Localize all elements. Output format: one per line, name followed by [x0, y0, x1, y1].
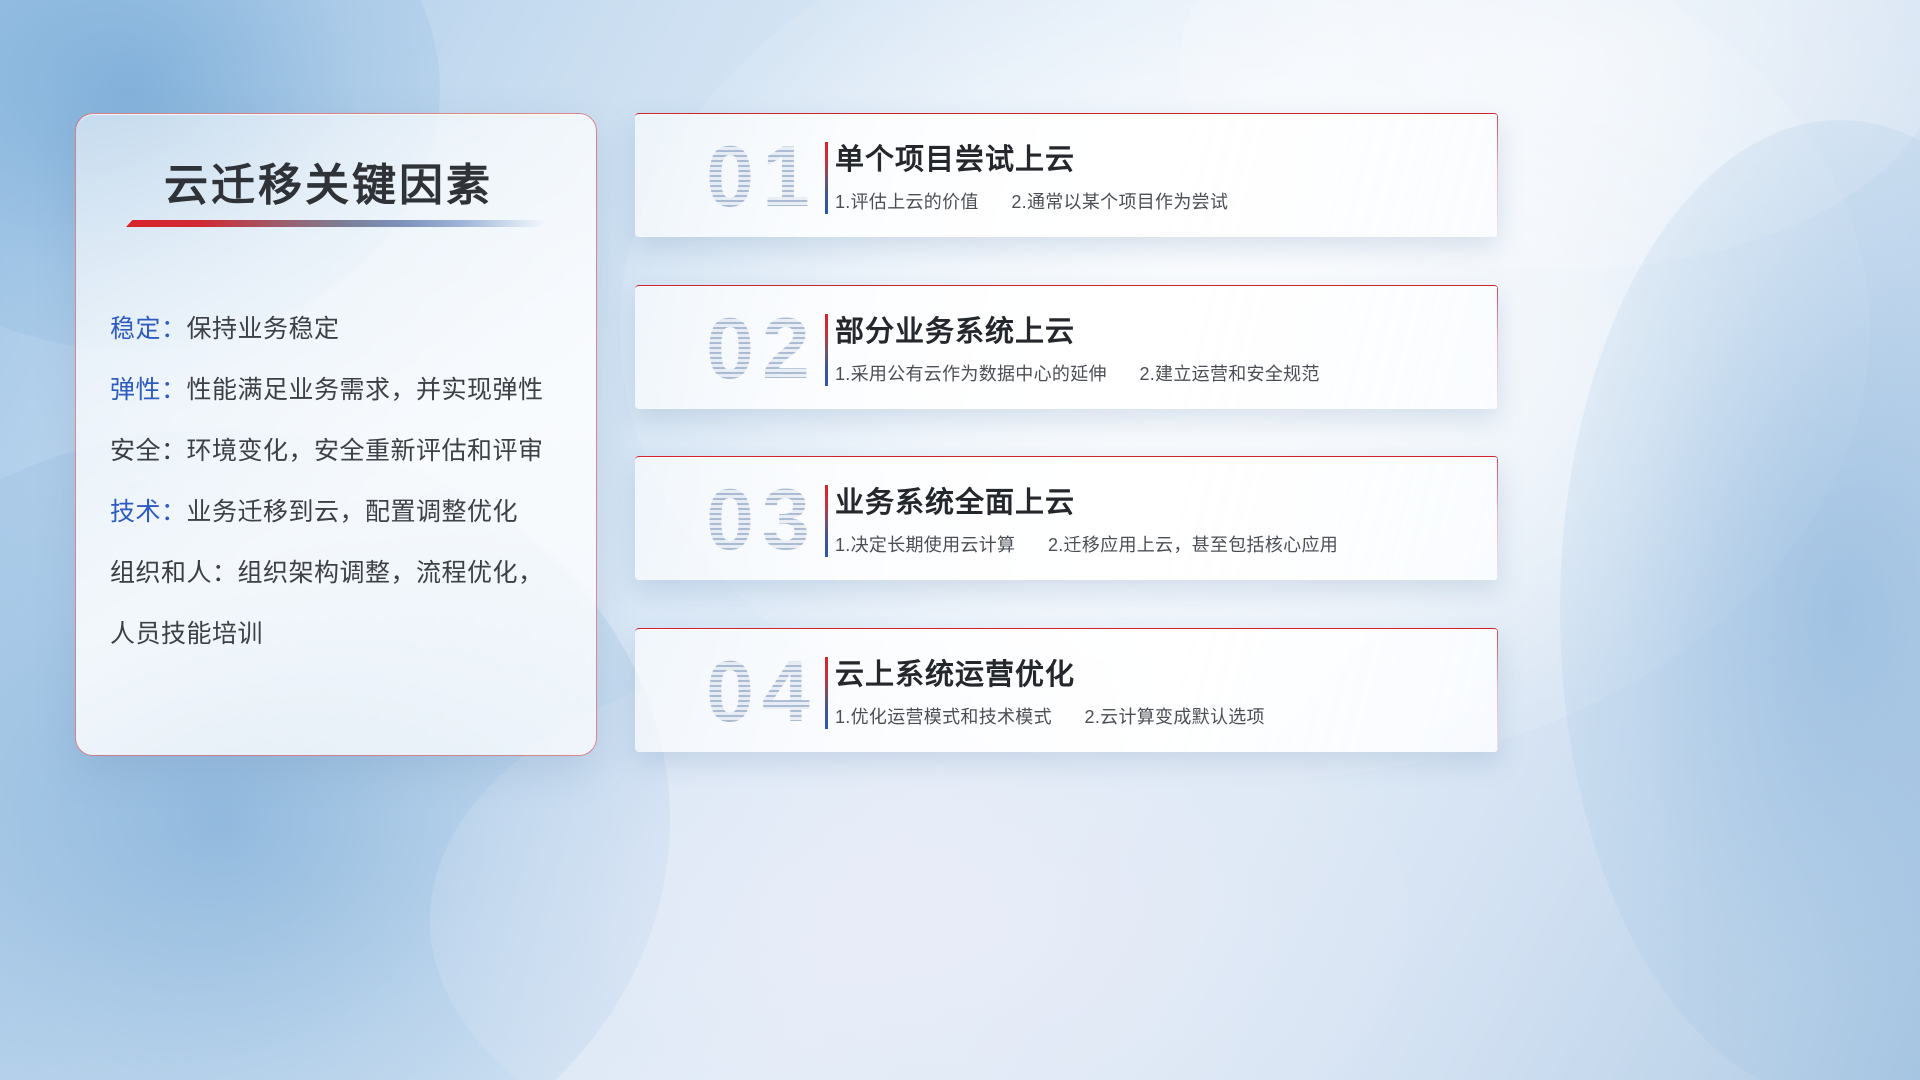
step-desc-item-2: 2.建立运营和安全规范: [1139, 364, 1319, 384]
background-glow-right-edge: [1560, 120, 1920, 1080]
key-factor-label: 组织和人：: [110, 559, 238, 587]
key-factor-value: 人员技能培训: [110, 620, 263, 648]
key-factor-row: 稳定：保持业务稳定: [110, 299, 574, 360]
title-underline-rule: [126, 220, 546, 227]
slide-canvas: 云迁移关键因素 稳定：保持业务稳定弹性：性能满足业务需求，并实现弹性安全：环境变…: [0, 0, 1920, 1080]
key-factor-row: 人员技能培训: [110, 604, 574, 665]
key-factor-label: 技术：: [110, 498, 187, 526]
key-factor-label: 安全：: [110, 437, 187, 465]
step-title-02: 部分业务系统上云: [835, 308, 1075, 350]
step-desc-item-1: 1.采用公有云作为数据中心的延伸: [835, 364, 1107, 384]
step-description-02: 1.采用公有云作为数据中心的延伸 2.建立运营和安全规范: [835, 360, 1320, 386]
step-desc-item-1: 1.决定长期使用云计算: [835, 535, 1015, 555]
key-factor-row: 技术：业务迁移到云，配置调整优化: [110, 482, 574, 543]
step-title-04: 云上系统运营优化: [835, 651, 1075, 693]
key-factor-value: 业务迁移到云，配置调整优化: [187, 498, 519, 526]
step-desc-item-2: 2.通常以某个项目作为尝试: [1011, 192, 1228, 212]
key-factor-row: 弹性：性能满足业务需求，并实现弹性: [110, 360, 574, 421]
step-description-01: 1.评估上云的价值 2.通常以某个项目作为尝试: [835, 188, 1228, 214]
key-factor-row: 组织和人：组织架构调整，流程优化，: [110, 543, 574, 604]
step-divider-bar-04: [825, 657, 828, 729]
step-divider-bar-01: [825, 142, 828, 214]
step-desc-item-2: 2.云计算变成默认选项: [1085, 707, 1265, 727]
step-desc-item-1: 1.评估上云的价值: [835, 192, 979, 212]
key-factor-value: 环境变化，安全重新评估和评审: [187, 437, 544, 465]
key-factors-list: 稳定：保持业务稳定弹性：性能满足业务需求，并实现弹性安全：环境变化，安全重新评估…: [110, 299, 574, 665]
key-factor-label: 弹性：: [110, 376, 187, 404]
key-factor-label: 稳定：: [110, 315, 187, 343]
step-title-03: 业务系统全面上云: [835, 479, 1075, 521]
step-desc-item-2: 2.迁移应用上云，甚至包括核心应用: [1048, 535, 1338, 555]
step-card-02[interactable]: 02 02 部分业务系统上云 1.采用公有云作为数据中心的延伸 2.建立运营和安…: [635, 285, 1498, 409]
step-card-04[interactable]: 04 04 云上系统运营优化 1.优化运营模式和技术模式 2.云计算变成默认选项: [635, 628, 1498, 752]
step-description-04: 1.优化运营模式和技术模式 2.云计算变成默认选项: [835, 703, 1265, 729]
step-divider-bar-02: [825, 314, 828, 386]
page-title: 云迁移关键因素: [164, 149, 493, 213]
step-desc-item-1: 1.优化运营模式和技术模式: [835, 707, 1052, 727]
key-factors-panel: 云迁移关键因素 稳定：保持业务稳定弹性：性能满足业务需求，并实现弹性安全：环境变…: [75, 113, 597, 756]
key-factor-row: 安全：环境变化，安全重新评估和评审: [110, 421, 574, 482]
key-factor-value: 保持业务稳定: [187, 315, 340, 343]
step-card-01[interactable]: 01 01 单个项目尝试上云 1.评估上云的价值 2.通常以某个项目作为尝试: [635, 113, 1498, 237]
step-description-03: 1.决定长期使用云计算 2.迁移应用上云，甚至包括核心应用: [835, 531, 1338, 557]
step-divider-bar-03: [825, 485, 828, 557]
key-factor-value: 组织架构调整，流程优化，: [238, 559, 544, 587]
key-factor-value: 性能满足业务需求，并实现弹性: [187, 376, 544, 404]
step-title-01: 单个项目尝试上云: [835, 136, 1075, 178]
step-card-03[interactable]: 03 03 业务系统全面上云 1.决定长期使用云计算 2.迁移应用上云，甚至包括…: [635, 456, 1498, 580]
